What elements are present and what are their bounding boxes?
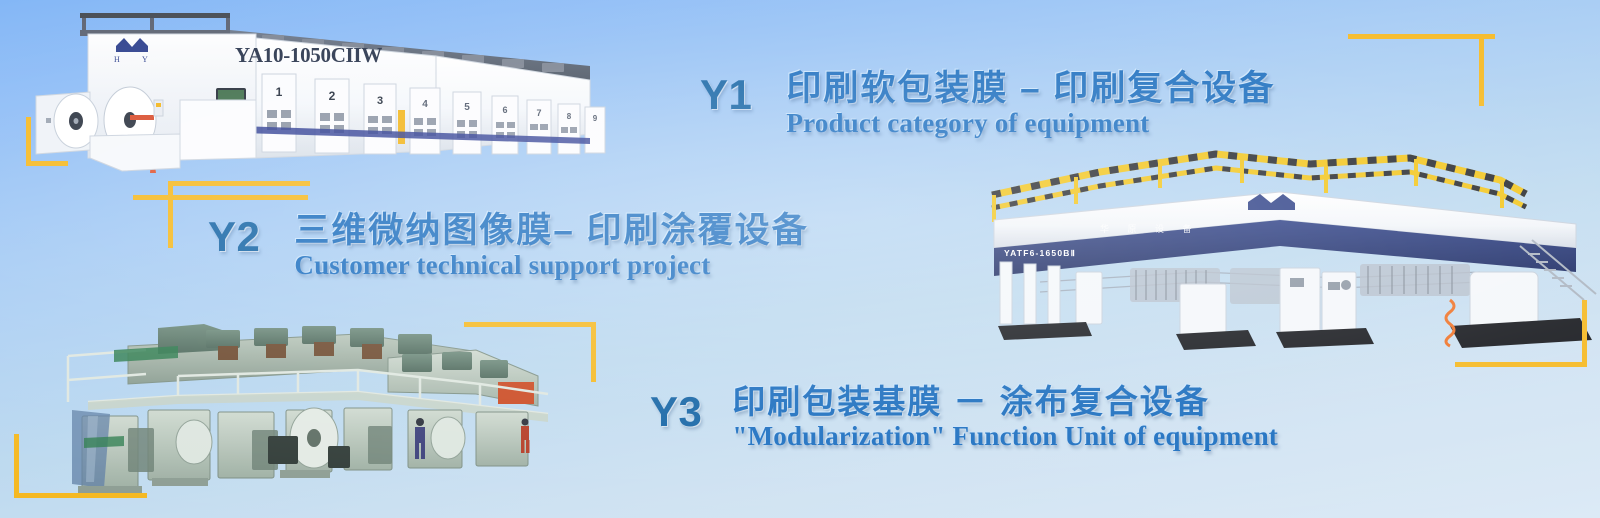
bracket-top-right-horizontal: [1348, 34, 1495, 39]
bracket-mid-left-vertical: [26, 117, 31, 165]
entry-code-y1: Y1: [700, 74, 752, 116]
svg-text:8: 8: [567, 112, 572, 121]
svg-text:9: 9: [593, 114, 598, 123]
bracket-y2-horizontal: [168, 181, 310, 186]
svg-text:YA10-1050CIIW: YA10-1050CIIW: [235, 43, 382, 67]
entry-title-en-y2: Customer technical support project: [294, 251, 808, 279]
bracket-y2-vertical: [168, 181, 173, 248]
bracket-y2-right-horizontal: [133, 195, 308, 200]
machine-image-rotogravure-printing-press: H Y YA10-1050CIIW 1 2: [30, 8, 610, 183]
svg-text:华 原 设 备: 华 原 设 备: [1100, 223, 1200, 234]
bracket-bottom-left-horizontal: [14, 493, 147, 498]
bracket-machine3-vertical: [591, 322, 596, 382]
bracket-machine2-vertical: [1582, 300, 1587, 366]
svg-text:YATF6-1650BⅡ: YATF6-1650BⅡ: [1004, 248, 1076, 258]
svg-text:1: 1: [276, 85, 283, 99]
product-category-banner: H Y YA10-1050CIIW 1 2: [0, 0, 1600, 518]
entry-row-y3: Y3 印刷包装基膜 － 涂布复合设备 "Modularization" Func…: [650, 385, 1278, 450]
entry-row-y2: Y2 三维微纳图像膜– 印刷涂覆设备 Customer technical su…: [208, 212, 809, 279]
bracket-top-right-vertical: [1479, 34, 1484, 106]
svg-text:Y: Y: [142, 55, 148, 64]
svg-text:7: 7: [536, 108, 541, 118]
entry-row-y1: Y1 印刷软包装膜 – 印刷复合设备 Product category of e…: [700, 70, 1275, 137]
entry-title-cn-y2: 三维微纳图像膜– 印刷涂覆设备: [294, 212, 808, 249]
entry-title-cn-y3: 印刷包装基膜 － 涂布复合设备: [732, 385, 1278, 420]
svg-text:H: H: [114, 55, 120, 64]
svg-text:3: 3: [377, 95, 383, 107]
bracket-machine2-horizontal: [1455, 362, 1587, 367]
svg-text:4: 4: [422, 99, 428, 110]
machine-image-coating-laminating-machine: 华 原 设 备 YATF6-1650BⅡ: [980, 150, 1600, 355]
entry-title-cn-y1: 印刷软包装膜 – 印刷复合设备: [786, 70, 1275, 107]
bracket-mid-left-horizontal: [26, 161, 68, 166]
entry-title-en-y1: Product category of equipment: [786, 109, 1275, 137]
entry-code-y2: Y2: [208, 216, 260, 258]
entry-code-y3: Y3: [650, 391, 702, 433]
bracket-machine3-horizontal: [464, 322, 596, 327]
svg-text:6: 6: [502, 105, 507, 115]
entry-title-en-y3: "Modularization" Function Unit of equipm…: [732, 422, 1278, 450]
svg-text:2: 2: [329, 89, 336, 103]
machine-image-base-film-coating-line: [28, 310, 573, 500]
svg-text:5: 5: [464, 102, 470, 113]
bracket-bottom-left-vertical: [14, 434, 19, 498]
